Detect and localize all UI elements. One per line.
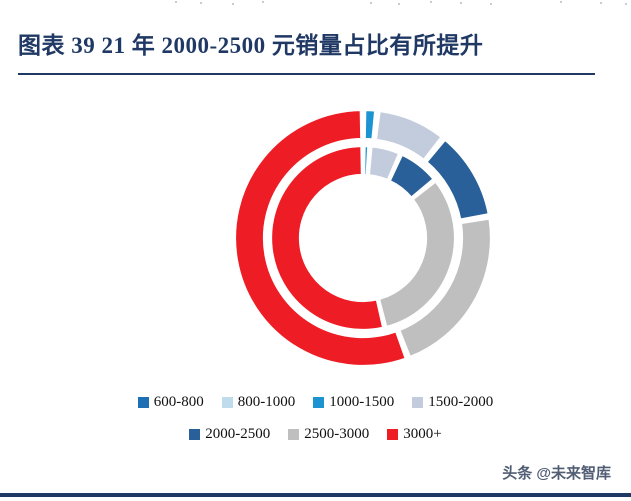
title-divider — [18, 73, 595, 75]
legend-item[interactable]: 1000-1500 — [313, 395, 394, 410]
legend-swatch-icon — [222, 397, 233, 408]
scan-speck — [490, 3, 492, 5]
legend-row-1: 600-800800-10001000-15001500-2000 — [0, 390, 631, 414]
page-title: 图表 39 21 年 2000-2500 元销量占比有所提升 — [18, 26, 483, 60]
legend-item-label: 1500-2000 — [428, 395, 493, 410]
legend-item[interactable]: 600-800 — [138, 395, 204, 410]
scan-speck — [175, 1, 177, 3]
doughnut-slice-inner-1000-1500 — [364, 146, 368, 175]
legend-item-label: 600-800 — [154, 395, 204, 410]
legend-swatch-icon — [412, 397, 423, 408]
scan-speck — [398, 3, 400, 5]
scan-artifact-strip — [0, 0, 631, 8]
legend-item-label: 2500-3000 — [304, 427, 369, 442]
scan-speck — [200, 2, 202, 4]
legend-swatch-icon — [138, 397, 149, 408]
footer-divider — [0, 493, 631, 497]
scan-speck — [600, 2, 602, 4]
chart-legend: 600-800800-10001000-15001500-2000 2000-2… — [0, 390, 631, 456]
scan-speck — [560, 1, 562, 3]
source-watermark: 头条 @未来智库 — [502, 462, 611, 483]
nested-doughnut-chart — [228, 108, 498, 368]
legend-item[interactable]: 1500-2000 — [412, 395, 493, 410]
scan-speck — [370, 2, 372, 4]
chart-area — [0, 80, 631, 385]
legend-item-label: 2000-2500 — [205, 427, 270, 442]
legend-item[interactable]: 2000-2500 — [189, 427, 270, 442]
legend-item-label: 3000+ — [403, 427, 441, 442]
legend-item-label: 800-1000 — [238, 395, 296, 410]
legend-row-2: 2000-25002500-30003000+ — [0, 422, 631, 446]
legend-swatch-icon — [387, 429, 398, 440]
doughnut-svg — [228, 108, 498, 368]
legend-item[interactable]: 800-1000 — [222, 395, 296, 410]
legend-item[interactable]: 2500-3000 — [288, 427, 369, 442]
scan-speck — [625, 3, 627, 5]
doughnut-slice-outer-1000-1500 — [365, 110, 375, 139]
figure-footer: 头条 @未来智库 — [0, 456, 631, 501]
figure-page: 图表 39 21 年 2000-2500 元销量占比有所提升 600-80080… — [0, 0, 631, 501]
scan-speck — [232, 3, 234, 5]
scan-speck — [262, 1, 264, 3]
legend-swatch-icon — [288, 429, 299, 440]
scan-speck — [430, 1, 432, 3]
legend-item-label: 1000-1500 — [329, 395, 394, 410]
scan-speck — [460, 2, 462, 4]
legend-swatch-icon — [313, 397, 324, 408]
figure-header: 图表 39 21 年 2000-2500 元销量占比有所提升 — [0, 26, 631, 74]
legend-item[interactable]: 3000+ — [387, 427, 441, 442]
legend-swatch-icon — [189, 429, 200, 440]
